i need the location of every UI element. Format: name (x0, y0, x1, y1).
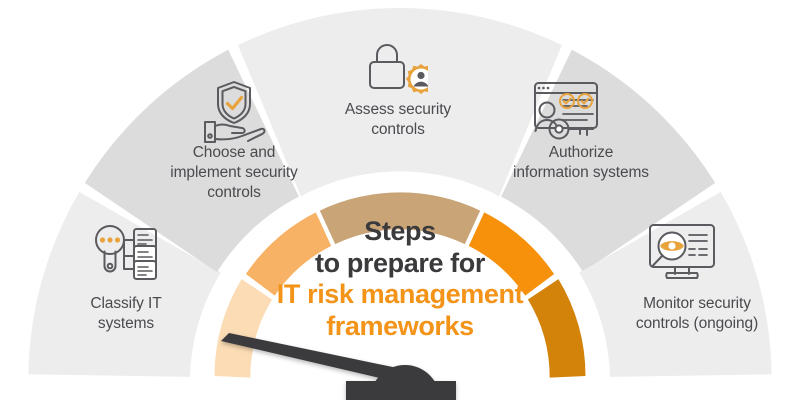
outer-segment-3 (238, 8, 562, 196)
gauge-infographic: Classify IT systems Choose and implement… (0, 0, 800, 400)
hand-shield-check-icon (200, 78, 268, 146)
magnifier-documents-icon (88, 222, 160, 282)
title-line-4: frameworks (255, 311, 545, 343)
needle-base (346, 381, 456, 400)
center-title: Steps to prepare for IT risk management … (255, 216, 545, 342)
title-line-2: to prepare for (255, 248, 545, 280)
gauge-needle (221, 333, 456, 400)
monitor-magnifier-eye-icon (645, 222, 721, 284)
browser-key-user-icon (527, 80, 605, 142)
padlock-gear-user-icon (366, 42, 428, 102)
title-line-3: IT risk management (255, 279, 545, 311)
title-line-1: Steps (255, 216, 545, 248)
